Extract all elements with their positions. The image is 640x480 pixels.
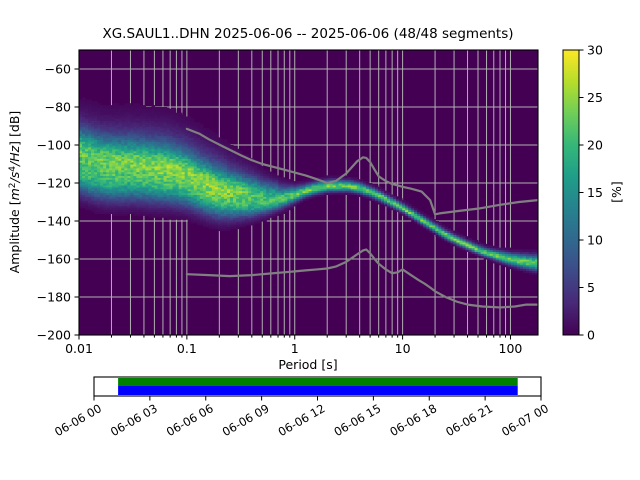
x-tick-label: 0.1 [177, 341, 197, 356]
figure-canvas: XG.SAUL1..DHN 2025-06-06 -- 2025-06-06 (… [0, 0, 640, 480]
x-tick-label: 1 [291, 341, 299, 356]
colorbar-tick-label: 0 [587, 328, 595, 343]
colorbar-tick-label: 10 [587, 233, 603, 248]
y-tick-label: −200 [37, 328, 71, 343]
colorbar-tick-label: 30 [587, 43, 603, 58]
y-tick-label: −80 [45, 100, 71, 115]
timeline-coverage-blue[interactable] [118, 386, 518, 395]
colorbar-tick-label: 25 [587, 90, 603, 105]
y-tick-label: −120 [37, 176, 71, 191]
colorbar-gradient [563, 50, 579, 335]
colorbar-tick-label: 20 [587, 138, 603, 153]
ppsd-figure: XG.SAUL1..DHN 2025-06-06 -- 2025-06-06 (… [0, 0, 640, 480]
svg-text:Amplitude [m2/s4/Hz] [dB]: Amplitude [m2/s4/Hz] [dB] [7, 111, 22, 274]
y-tick-label: −100 [37, 138, 71, 153]
y-axis-label: Amplitude [m2/s4/Hz] [dB] [7, 111, 22, 274]
x-tick-label: 0.01 [65, 341, 93, 356]
y-tick-label: −180 [37, 290, 71, 305]
y-tick-label: −60 [45, 62, 71, 77]
x-tick-label: 100 [499, 341, 523, 356]
y-tick-label: −160 [37, 252, 71, 267]
page-title: XG.SAUL1..DHN 2025-06-06 -- 2025-06-06 (… [102, 26, 513, 42]
colorbar-label: [%] [609, 181, 624, 203]
timeline-coverage-green[interactable] [118, 378, 518, 386]
x-axis-label: Period [s] [278, 357, 337, 372]
colorbar-tick-label: 15 [587, 185, 603, 200]
colorbar-tick-label: 5 [587, 280, 595, 295]
y-tick-label: −140 [37, 214, 71, 229]
x-tick-label: 10 [395, 341, 411, 356]
